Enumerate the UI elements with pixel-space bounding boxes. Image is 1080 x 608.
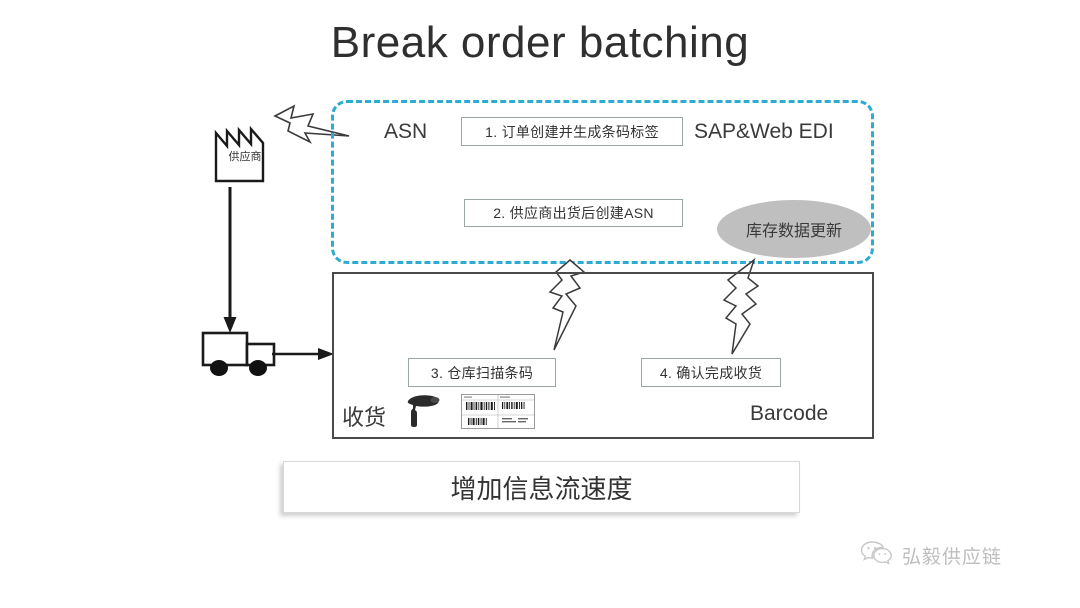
sap-web-edi-label: SAP&Web EDI (694, 120, 834, 144)
arrow-factory-to-truck (222, 187, 238, 340)
shipping-label-image (461, 394, 535, 429)
barcode-scanner-icon (402, 392, 442, 433)
inventory-update-ellipse: 库存数据更新 (717, 200, 871, 258)
step-box-3[interactable]: 3. 仓库扫描条码 (408, 358, 556, 387)
factory-label: 供应商 (219, 148, 271, 164)
asn-label: ASN (384, 120, 427, 144)
slide-canvas: Break order batching 供应商 (0, 0, 1080, 608)
step-box-2[interactable]: 2. 供应商出货后创建ASN (464, 199, 683, 227)
barcode-label-text: Barcode (750, 402, 828, 426)
wechat-icon (860, 540, 894, 571)
receiving-label: 收货 (342, 400, 386, 432)
truck-icon (200, 330, 280, 385)
step-box-1[interactable]: 1. 订单创建并生成条码标签 (461, 117, 683, 146)
watermark: 弘毅供应链 (860, 540, 1002, 571)
watermark-text: 弘毅供应链 (902, 542, 1002, 569)
page-title: Break order batching (0, 18, 1080, 68)
summary-banner: 增加信息流速度 (283, 461, 800, 513)
arrow-truck-to-receiving (272, 346, 336, 367)
step-box-4[interactable]: 4. 确认完成收货 (641, 358, 781, 387)
